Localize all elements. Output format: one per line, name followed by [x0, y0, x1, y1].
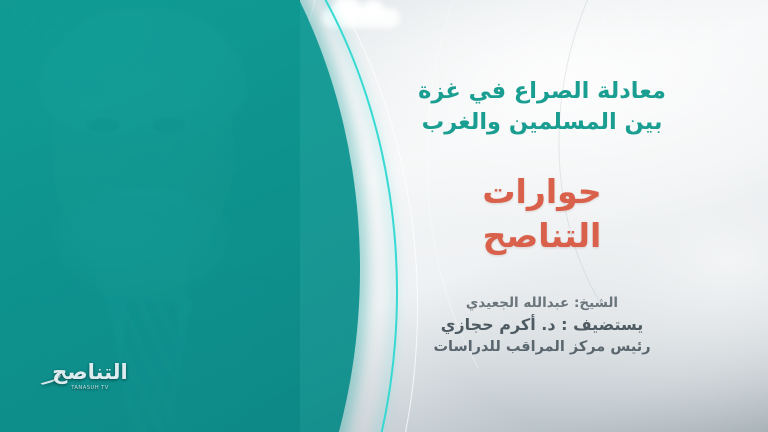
show-name: حوارات التناصح — [342, 170, 742, 258]
program-title: معادلة الصراع في غزة بين المسلمين والغرب — [342, 76, 742, 138]
credit-host: الشيخ: عبدالله الجعيدي — [342, 292, 742, 314]
program-title-line-1: معادلة الصراع في غزة — [342, 76, 742, 107]
credit-guest: يستضيف : د. أكرم حجازي — [342, 314, 742, 336]
channel-logo: التناصح TANASUH TV — [36, 360, 144, 400]
text-column: معادلة الصراع في غزة بين المسلمين والغرب… — [342, 0, 742, 432]
show-name-line-2: التناصح — [342, 214, 742, 258]
broadcast-title-card: معادلة الصراع في غزة بين المسلمين والغرب… — [0, 0, 768, 432]
channel-logo-subtext: TANASUH TV — [36, 385, 144, 391]
credits-block: الشيخ: عبدالله الجعيدي يستضيف : د. أكرم … — [342, 292, 742, 358]
show-name-line-1: حوارات — [342, 170, 742, 214]
bokeh-dot — [744, 96, 748, 100]
credit-guest-role: رئيس مركز المراقب للدراسات — [342, 336, 742, 358]
bokeh-dot — [758, 150, 761, 153]
program-title-line-2: بين المسلمين والغرب — [342, 107, 742, 138]
channel-logo-wordmark: التناصح — [36, 360, 144, 384]
